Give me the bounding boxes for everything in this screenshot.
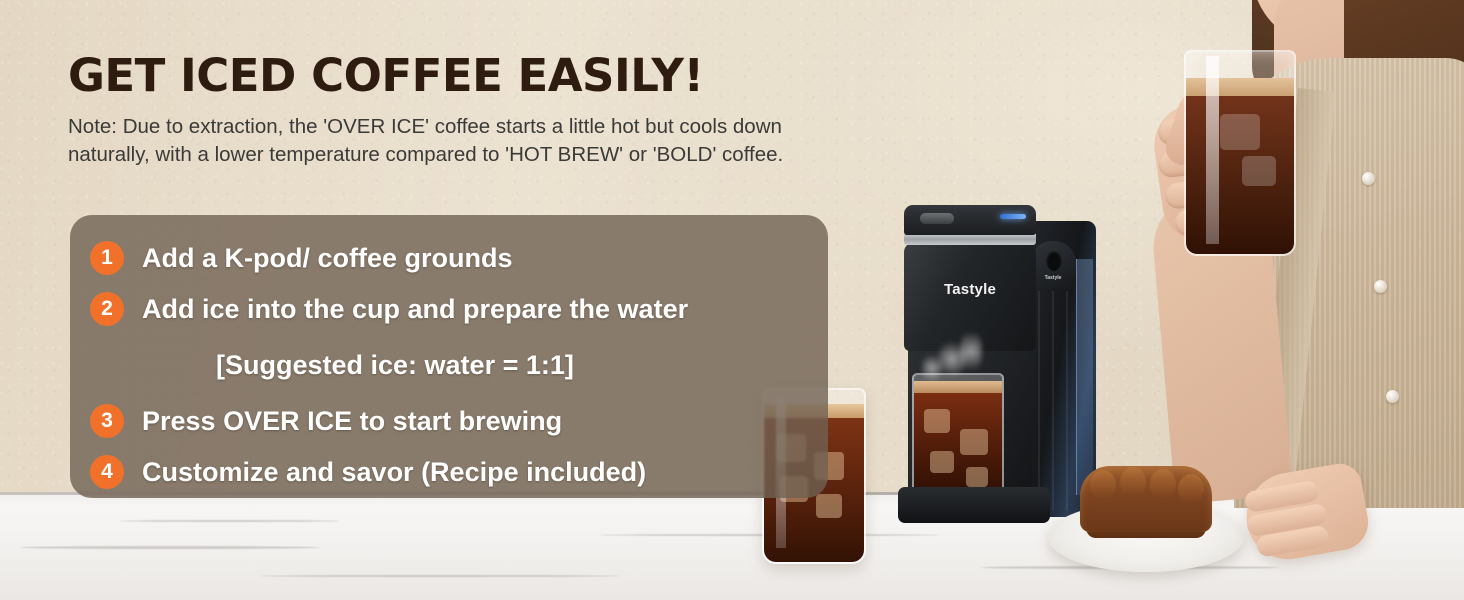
woman-holding-drink [1148,0,1464,500]
marble-vein [260,575,620,577]
ice-cube [966,467,988,487]
reservoir-cap: Tastyle [1030,241,1076,289]
note-text: Note: Due to extraction, the 'OVER ICE' … [68,113,828,169]
coffee-crema [1186,78,1294,96]
step-sub-note: [Suggested ice: water = 1:1] [216,350,574,381]
step-label: Press OVER ICE to start brewing [142,406,562,437]
reservoir-rib [1052,291,1054,511]
step-number-badge: 2 [90,292,124,326]
step-label: Add ice into the cup and prepare the wat… [142,294,688,325]
step-item: 3 Press OVER ICE to start brewing [90,404,562,438]
reservoir-handle-hole [1046,249,1062,271]
ice-cube [960,429,988,455]
brewing-coffee [914,389,1002,497]
step-number-badge: 1 [90,241,124,275]
cake-lobe [1090,470,1116,500]
cardigan-button [1362,172,1375,185]
marble-vein [120,520,340,522]
glass-highlight [1206,56,1219,244]
step-item: 1 Add a K-pod/ coffee grounds [90,241,513,275]
brewing-glass [912,373,1004,499]
step-label: Add a K-pod/ coffee grounds [142,243,513,274]
reservoir-rib [1038,291,1040,511]
reservoir-window [1076,259,1093,495]
page-title: GET ICED COFFEE EASILY! [68,49,703,102]
maker-dial[interactable] [920,213,954,224]
water-reservoir: Tastyle [1028,221,1096,517]
ice-cube [930,451,954,473]
bundt-cake [1080,466,1212,532]
cake-lobe [1120,467,1146,497]
ice-cube [1242,156,1276,186]
brewing-crema [914,381,1002,393]
steps-list: 1 Add a K-pod/ coffee grounds 2 Add ice … [70,215,828,498]
reservoir-brand-label: Tastyle [1030,275,1076,281]
ice-cube [924,409,950,433]
cake-lobe [1150,469,1176,499]
promo-banner: Tastyle Tastyle [0,0,1464,600]
marble-vein [20,546,320,549]
step-item: 2 Add ice into the cup and prepare the w… [90,292,688,326]
step-item: 4 Customize and savor (Recipe included) [90,455,646,489]
cardigan-button [1374,280,1387,293]
held-iced-coffee-glass [1184,50,1296,256]
maker-control-panel[interactable] [904,205,1036,235]
step-number-badge: 4 [90,455,124,489]
step-label: Customize and savor (Recipe included) [142,457,646,488]
maker-brand-label: Tastyle [904,281,1036,298]
maker-drip-tray [898,487,1050,523]
steps-panel: 1 Add a K-pod/ coffee grounds 2 Add ice … [70,215,828,498]
cake-lobe [1178,474,1204,504]
ice-cube [1220,114,1260,150]
steam-wisp [960,325,982,377]
cardigan-button [1386,390,1399,403]
reservoir-rib [1066,291,1068,511]
tastyle-coffee-maker: Tastyle Tastyle [898,205,1108,525]
maker-led-indicator [1000,214,1026,219]
step-number-badge: 3 [90,404,124,438]
